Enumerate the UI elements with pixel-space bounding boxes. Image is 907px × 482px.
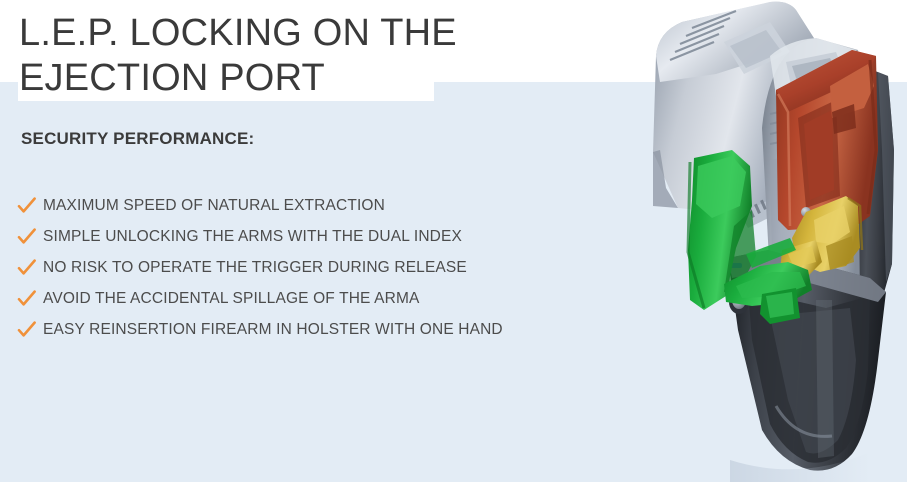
list-item: SIMPLE UNLOCKING THE ARMS WITH THE DUAL … bbox=[16, 221, 503, 252]
list-item: EASY REINSERTION FIREARM IN HOLSTER WITH… bbox=[16, 314, 503, 345]
check-icon bbox=[16, 320, 38, 340]
list-item-label: MAXIMUM SPEED OF NATURAL EXTRACTION bbox=[43, 197, 385, 215]
check-icon bbox=[16, 227, 38, 247]
security-performance-list: MAXIMUM SPEED OF NATURAL EXTRACTIONSIMPL… bbox=[16, 190, 503, 345]
list-item-label: SIMPLE UNLOCKING THE ARMS WITH THE DUAL … bbox=[43, 228, 462, 246]
list-item-label: NO RISK TO OPERATE THE TRIGGER DURING RE… bbox=[43, 259, 467, 277]
list-item: AVOID THE ACCIDENTAL SPILLAGE OF THE ARM… bbox=[16, 283, 503, 314]
list-item-label: EASY REINSERTION FIREARM IN HOLSTER WITH… bbox=[43, 321, 503, 339]
check-icon bbox=[16, 258, 38, 278]
list-item: NO RISK TO OPERATE THE TRIGGER DURING RE… bbox=[16, 252, 503, 283]
check-icon bbox=[16, 196, 38, 216]
section-subtitle: SECURITY PERFORMANCE: bbox=[21, 129, 254, 149]
list-item: MAXIMUM SPEED OF NATURAL EXTRACTION bbox=[16, 190, 503, 221]
check-icon bbox=[16, 289, 38, 309]
page-title: L.E.P. LOCKING ON THE EJECTION PORT bbox=[19, 11, 459, 101]
list-item-label: AVOID THE ACCIDENTAL SPILLAGE OF THE ARM… bbox=[43, 290, 420, 308]
holster-illustration bbox=[620, 0, 907, 482]
slide-root: L.E.P. LOCKING ON THE EJECTION PORT SECU… bbox=[0, 0, 907, 482]
